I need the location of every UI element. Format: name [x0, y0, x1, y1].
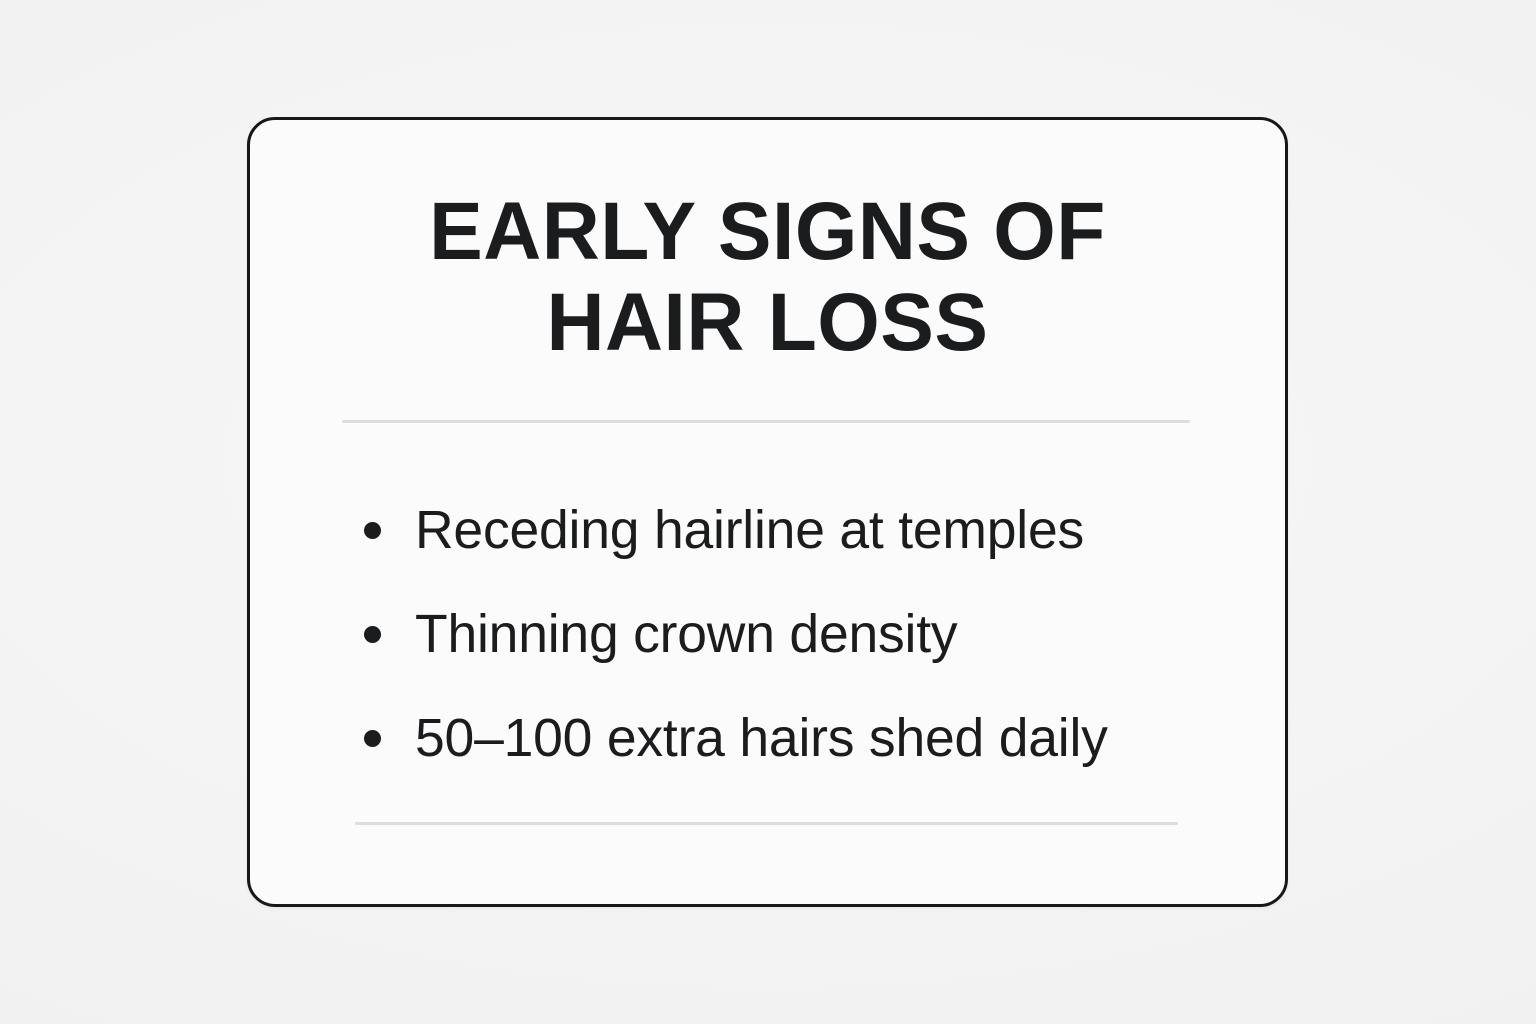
- title-line-1: EARLY SIGNS OF: [260, 186, 1274, 277]
- bullet-dot-icon: [364, 626, 381, 643]
- title-line-2: HAIR LOSS: [260, 277, 1274, 368]
- page-title: EARLY SIGNS OF HAIR LOSS: [250, 186, 1285, 368]
- card-content: EARLY SIGNS OF HAIR LOSS Receding hairli…: [250, 120, 1285, 904]
- bullet-dot-icon: [364, 522, 381, 539]
- list-item-label: 50–100 extra hairs shed daily: [415, 708, 1108, 768]
- bullet-dot-icon: [364, 730, 381, 747]
- list-item-label: Receding hairline at temples: [415, 500, 1084, 560]
- page-canvas: EARLY SIGNS OF HAIR LOSS Receding hairli…: [0, 0, 1536, 1024]
- list-item: 50–100 extra hairs shed daily: [250, 686, 1285, 790]
- info-card: EARLY SIGNS OF HAIR LOSS Receding hairli…: [247, 117, 1288, 907]
- list-item-label: Thinning crown density: [415, 604, 957, 664]
- bottom-divider: [355, 822, 1178, 825]
- list-item: Receding hairline at temples: [250, 478, 1285, 582]
- symptom-list: Receding hairline at temples Thinning cr…: [250, 478, 1285, 790]
- top-divider: [342, 420, 1190, 423]
- list-item: Thinning crown density: [250, 582, 1285, 686]
